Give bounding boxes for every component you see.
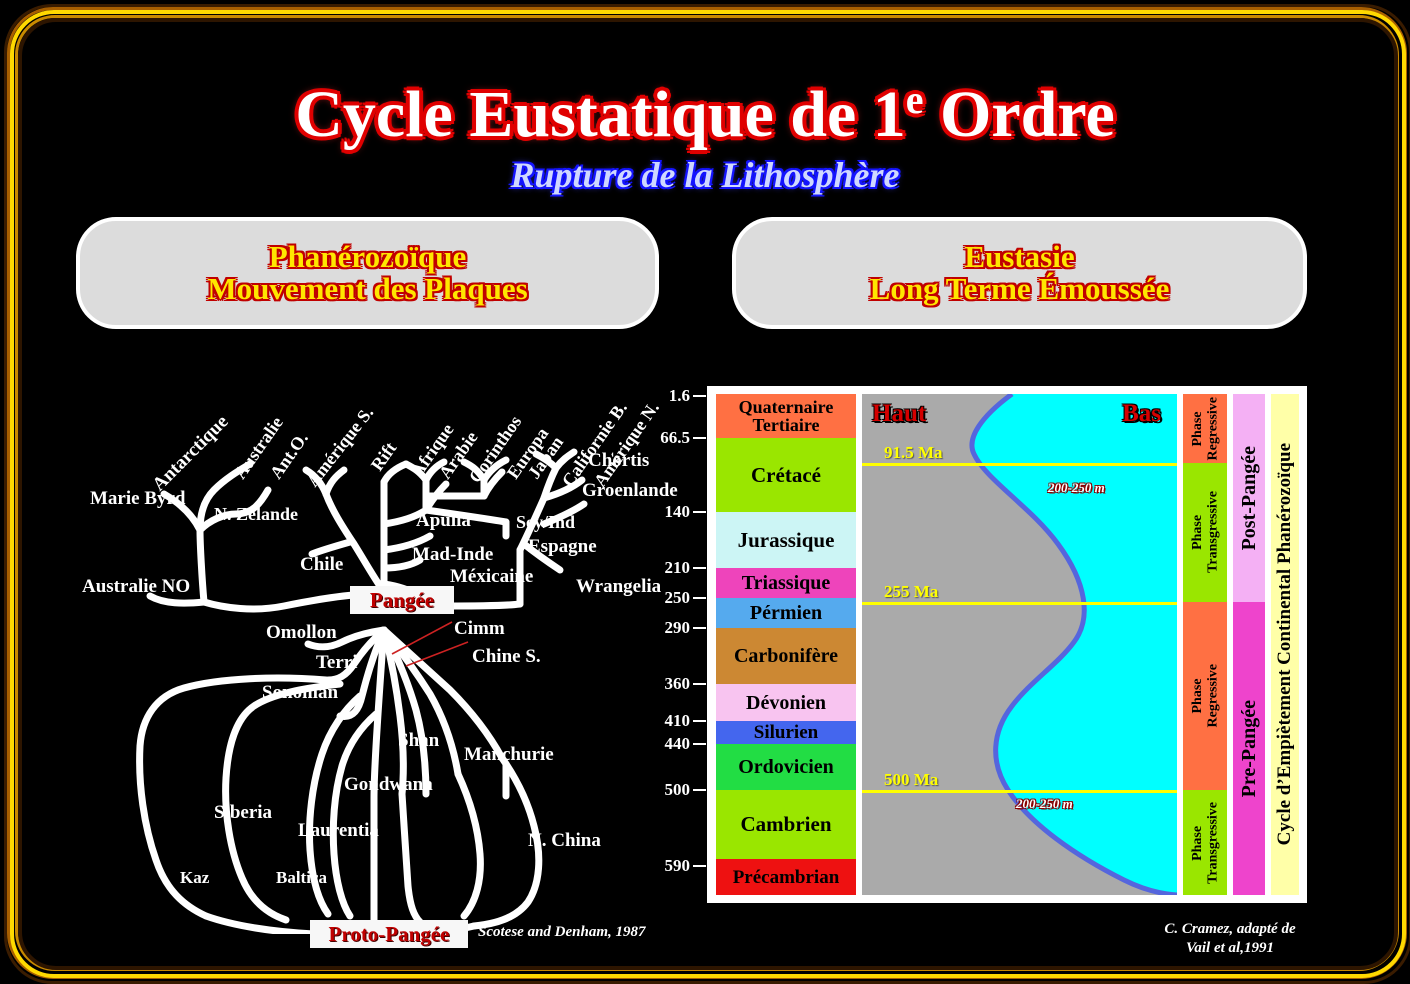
plate-tectonics-tree: AntarctiqueAustralieAnt.O.Amérique S.Rif… <box>54 354 674 934</box>
geologic-period-column: QuaternaireTertiaireCrétacéJurassiqueTri… <box>716 394 856 895</box>
page-subtitle: Rupture de la Lithosphère <box>24 154 1386 196</box>
pangee-band-label: Post-Pangée <box>1238 446 1260 550</box>
period-band[interactable]: QuaternaireTertiaire <box>716 394 856 438</box>
axis-tick-label: 1.6 <box>669 386 690 406</box>
label-bas: Bas <box>1122 400 1161 428</box>
tree-label: N. Zélande <box>214 504 298 525</box>
period-label: QuaternaireTertiaire <box>739 398 834 434</box>
period-label: Silurien <box>754 723 818 742</box>
tree-label: Manchurie <box>464 744 554 766</box>
phase-band-label: PhaseRegressive <box>1190 397 1221 461</box>
pangee-column: Post-PangéePre-Pangée <box>1233 394 1265 895</box>
axis-tick-mark <box>693 567 706 569</box>
period-label: Carbonifère <box>734 646 838 666</box>
axis-tick-label: 500 <box>665 780 691 800</box>
tree-label: Shan <box>398 730 439 752</box>
pangee-band-label: Pre-Pangée <box>1238 700 1260 797</box>
plaque-eustasy: Eustasie Long Terme Émoussée <box>732 217 1307 329</box>
axis-tick-mark <box>693 597 706 599</box>
period-label: Précambrian <box>733 868 840 887</box>
axis-tick-mark <box>693 627 706 629</box>
period-band[interactable]: Ordovicien <box>716 744 856 790</box>
tree-label: Chine S. <box>472 646 541 668</box>
tree-label: Marie Byrd <box>90 488 186 510</box>
axis-tick-mark <box>693 395 706 397</box>
tree-label: Méxicaine <box>450 566 533 588</box>
tree-label: N. China <box>528 830 601 852</box>
tree-label: Australie NO <box>82 576 190 598</box>
period-label: Cambrien <box>741 814 832 835</box>
plaque-right-line1: Eustasie <box>964 241 1074 273</box>
period-band[interactable]: Pérmien <box>716 598 856 628</box>
cycle-column: Cycle d’Empiètement Continental Phanéroz… <box>1271 394 1299 895</box>
sea-level-curve-svg <box>862 394 1177 895</box>
phase-band-label: PhaseTransgressive <box>1190 491 1221 573</box>
axis-tick-mark <box>693 720 706 722</box>
pangee-band[interactable]: Post-Pangée <box>1233 394 1265 602</box>
time-axis: 1.666.5140210250290360410440500590 <box>644 386 706 903</box>
marker-line <box>862 463 1177 466</box>
marker-line <box>862 602 1177 605</box>
credit-block: C. Cramez, adapté de Vail et al,1991 <box>1110 920 1350 958</box>
tree-label: Chortis <box>588 450 649 472</box>
tree-label: Gondwana <box>344 774 433 796</box>
tree-label: Sey/Ind <box>516 512 575 533</box>
tree-label: Chile <box>300 554 343 576</box>
node-pangee[interactable]: Pangée <box>350 586 454 614</box>
tree-label: Sonoman <box>262 682 338 704</box>
period-band[interactable]: Précambrian <box>716 859 856 895</box>
plaque-right-line2: Long Terme Émoussée <box>870 273 1170 305</box>
period-band[interactable]: Triassique <box>716 568 856 598</box>
phase-band-label: PhaseTransgressive <box>1190 802 1221 884</box>
depth-label-upper: 200-250 m <box>1048 480 1105 496</box>
credit-line-2: Vail et al,1991 <box>1110 939 1350 958</box>
tree-label: Omollon <box>266 622 337 644</box>
period-band[interactable]: Cambrien <box>716 790 856 859</box>
period-label: Ordovicien <box>738 757 834 777</box>
credit-line-1: C. Cramez, adapté de <box>1110 920 1350 939</box>
axis-tick-mark <box>693 683 706 685</box>
tree-label: Laurentia <box>298 820 379 842</box>
period-band[interactable]: Jurassique <box>716 512 856 568</box>
axis-tick-label: 210 <box>665 558 691 578</box>
period-band[interactable]: Dévonien <box>716 684 856 721</box>
poster-stage: Cycle Eustatique de 1e Ordre Rupture de … <box>24 24 1386 958</box>
title-ordinal: e <box>906 77 924 122</box>
plaque-left-line1: Phanérozoïque <box>269 241 467 273</box>
title-prefix: Cycle Eustatique de 1 <box>295 78 906 151</box>
node-proto-pangee[interactable]: Proto-Pangée <box>310 920 468 948</box>
tree-label: Terri <box>316 652 358 674</box>
axis-tick-label: 290 <box>665 618 691 638</box>
page-title: Cycle Eustatique de 1e Ordre <box>24 76 1386 153</box>
axis-tick-mark <box>693 789 706 791</box>
plaque-left-line2: Mouvement des Plaques <box>207 273 527 305</box>
tree-label: Espagne <box>528 536 597 558</box>
sea-level-curve: Haut Bas 91.5 Ma255 Ma500 Ma 200-250 m 2… <box>862 394 1177 895</box>
phase-band[interactable]: PhaseTransgressive <box>1183 463 1227 602</box>
plaque-plate-movement: Phanérozoïque Mouvement des Plaques <box>76 217 659 329</box>
axis-tick-mark <box>693 743 706 745</box>
axis-tick-label: 410 <box>665 711 691 731</box>
axis-tick-label: 440 <box>665 734 691 754</box>
axis-tick-mark <box>693 865 706 867</box>
title-suffix: Ordre <box>924 78 1115 151</box>
period-label: Crétacé <box>751 465 821 486</box>
tree-label: Baltica <box>276 868 327 888</box>
axis-tick-mark <box>693 437 706 439</box>
citation-scotese: Scotese and Denham, 1987 <box>478 924 646 941</box>
marker-line-label: 255 Ma <box>884 582 938 602</box>
marker-line-label: 91.5 Ma <box>884 443 943 463</box>
phase-band[interactable]: PhaseRegressive <box>1183 602 1227 790</box>
period-band[interactable]: Carbonifère <box>716 628 856 684</box>
eustasy-chart: QuaternaireTertiaireCrétacéJurassiqueTri… <box>707 386 1307 903</box>
tree-label: Mad-Inde <box>412 544 493 566</box>
axis-tick-label: 360 <box>665 674 691 694</box>
axis-tick-label: 66.5 <box>660 428 690 448</box>
pangee-band[interactable]: Pre-Pangée <box>1233 602 1265 895</box>
tree-label: Siberia <box>214 802 272 824</box>
tree-label: Kaz <box>180 868 209 888</box>
period-band[interactable]: Crétacé <box>716 438 856 512</box>
marker-line <box>862 790 1177 793</box>
phase-band-label: PhaseRegressive <box>1190 664 1221 728</box>
period-label: Triassique <box>742 573 831 593</box>
axis-tick-label: 140 <box>665 502 691 522</box>
label-haut: Haut <box>872 400 926 428</box>
phase-column: PhaseRegressivePhaseTransgressivePhaseRe… <box>1183 394 1227 895</box>
tree-label: Cimm <box>454 618 505 640</box>
phase-band[interactable]: PhaseTransgressive <box>1183 790 1227 895</box>
marker-line-label: 500 Ma <box>884 770 938 790</box>
period-band[interactable]: Silurien <box>716 721 856 744</box>
cycle-band[interactable]: Cycle d’Empiètement Continental Phanéroz… <box>1271 394 1299 895</box>
cycle-band-label: Cycle d’Empiètement Continental Phanéroz… <box>1275 443 1296 845</box>
axis-tick-label: 250 <box>665 588 691 608</box>
axis-tick-mark <box>693 511 706 513</box>
period-label: Pérmien <box>750 603 822 623</box>
depth-label-lower: 200-250 m <box>1016 796 1073 812</box>
period-label: Jurassique <box>738 530 835 551</box>
phase-band[interactable]: PhaseRegressive <box>1183 394 1227 463</box>
sea-level-curve-column: Haut Bas 91.5 Ma255 Ma500 Ma 200-250 m 2… <box>862 394 1177 895</box>
period-label: Dévonien <box>746 693 826 713</box>
tree-label: Apulia <box>416 510 471 532</box>
axis-tick-label: 590 <box>665 856 691 876</box>
